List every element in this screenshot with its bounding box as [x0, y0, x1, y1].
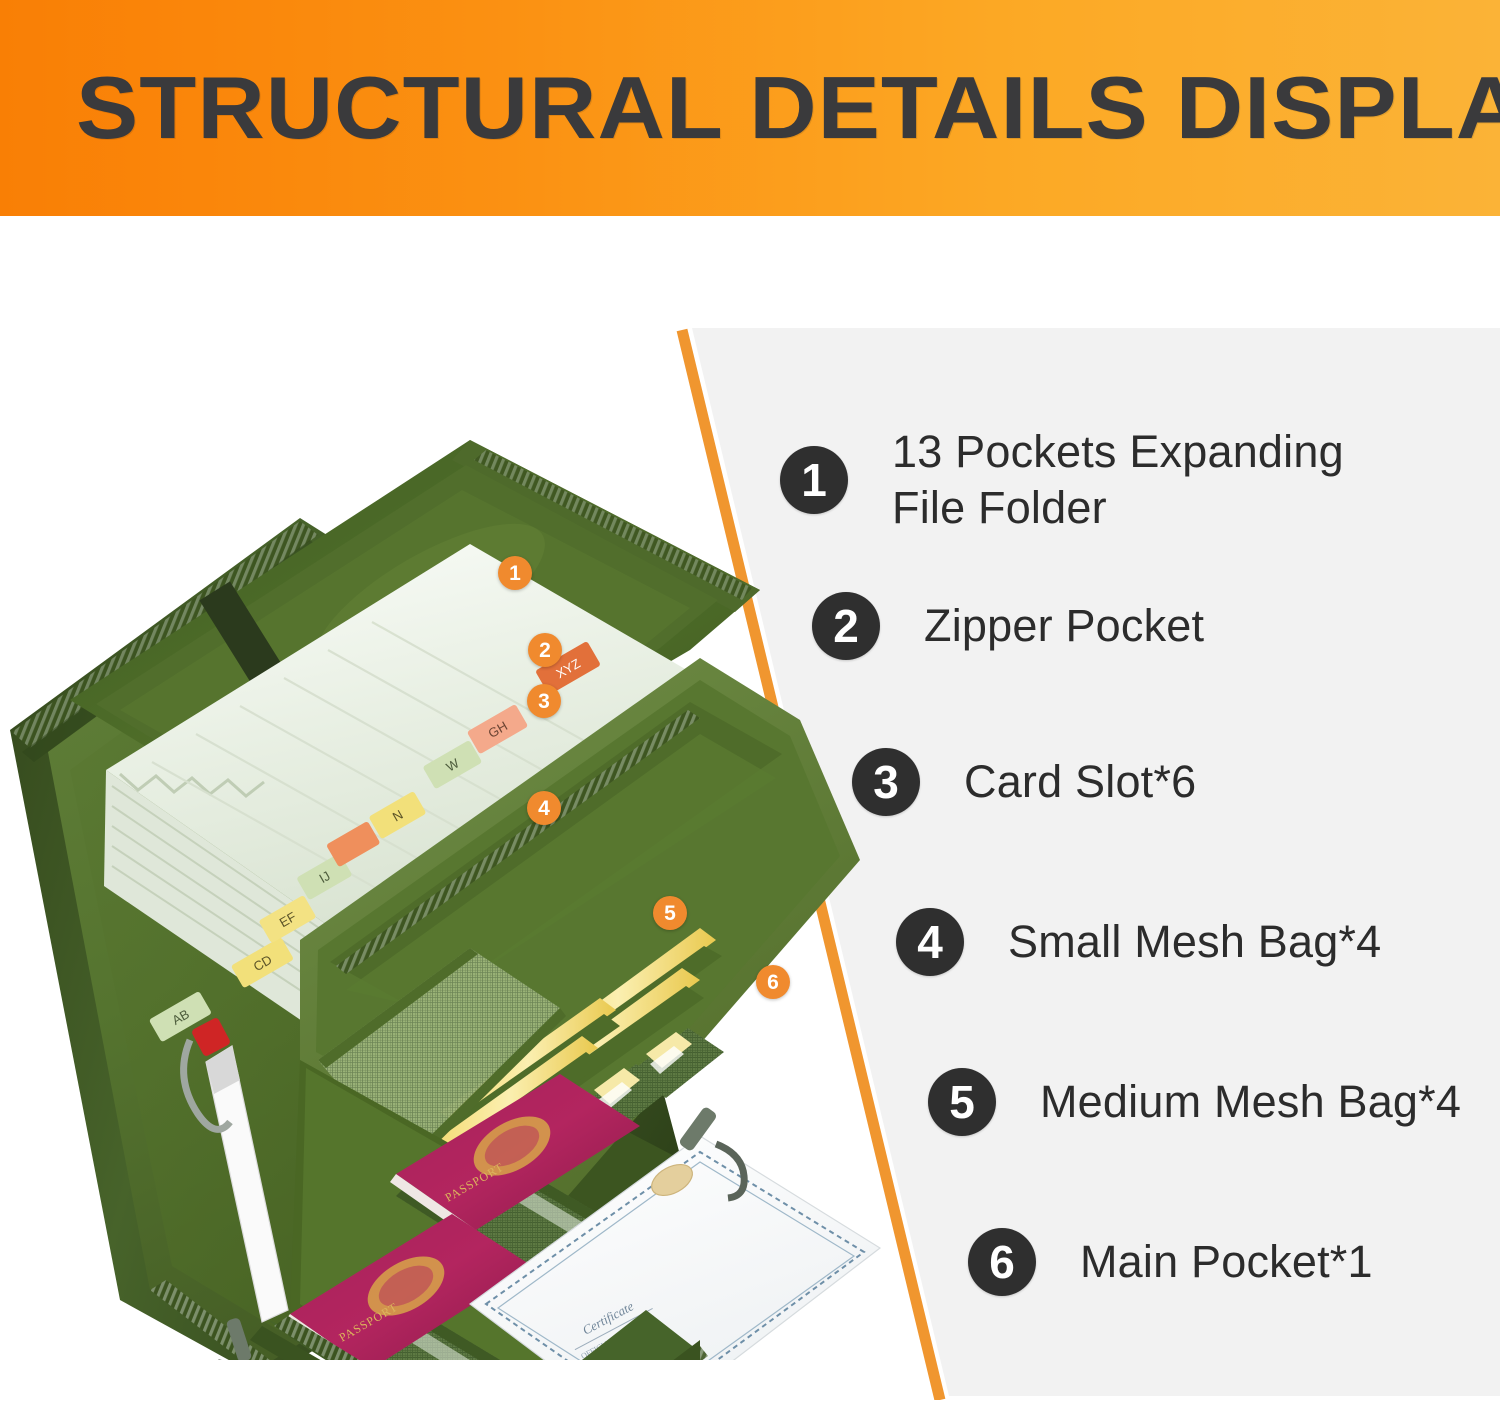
feature-item-2: 2 Zipper Pocket — [812, 592, 1204, 660]
feature-label-4: Small Mesh Bag*4 — [1008, 914, 1381, 970]
feature-item-1: 1 13 Pockets Expanding File Folder — [780, 424, 1344, 536]
feature-badge-4-number: 4 — [917, 919, 943, 965]
feature-badge-3-number: 3 — [873, 759, 899, 805]
feature-label-1: 13 Pockets Expanding File Folder — [892, 424, 1344, 536]
feature-label-2: Zipper Pocket — [924, 598, 1204, 654]
feature-badge-5-number: 5 — [949, 1079, 975, 1125]
feature-badge-1-number: 1 — [801, 457, 827, 503]
feature-badge-4: 4 — [896, 908, 964, 976]
feature-badge-2: 2 — [812, 592, 880, 660]
feature-badge-6-number: 6 — [989, 1239, 1015, 1285]
feature-item-6: 6 Main Pocket*1 — [968, 1228, 1373, 1296]
feature-item-3: 3 Card Slot*6 — [852, 748, 1196, 816]
feature-label-3: Card Slot*6 — [964, 754, 1196, 810]
feature-badge-3: 3 — [852, 748, 920, 816]
feature-label-5: Medium Mesh Bag*4 — [1040, 1074, 1461, 1130]
feature-badge-2-number: 2 — [833, 603, 859, 649]
feature-label-6: Main Pocket*1 — [1080, 1234, 1373, 1290]
feature-badge-6: 6 — [968, 1228, 1036, 1296]
feature-list: 1 13 Pockets Expanding File Folder 2 Zip… — [0, 0, 1500, 1403]
feature-item-4: 4 Small Mesh Bag*4 — [896, 908, 1381, 976]
feature-item-5: 5 Medium Mesh Bag*4 — [928, 1068, 1461, 1136]
infographic-root: STRUCTURAL DETAILS DISPLAY — [0, 0, 1500, 1403]
feature-badge-5: 5 — [928, 1068, 996, 1136]
feature-badge-1: 1 — [780, 446, 848, 514]
